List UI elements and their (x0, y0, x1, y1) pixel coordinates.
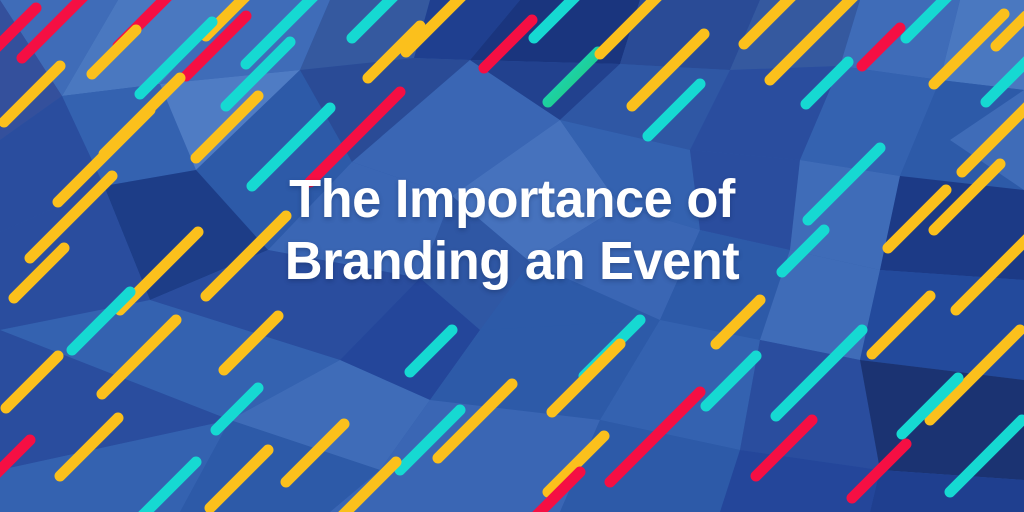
diagonal-stripe (548, 52, 598, 102)
diagonal-stripe (610, 392, 700, 482)
diagonal-stripe (872, 296, 930, 354)
diagonal-stripe (286, 424, 344, 482)
diagonal-stripe (0, 440, 30, 486)
diagonal-stripe (410, 330, 452, 372)
diagonal-stripe (782, 230, 824, 272)
diagonal-stripe (600, 0, 660, 54)
diagonal-stripe (60, 418, 118, 476)
diagonal-stripe (716, 300, 760, 344)
diagonal-stripe (862, 28, 900, 66)
diagonal-stripe (648, 84, 700, 136)
diagonal-stripe (808, 148, 880, 220)
diagonal-stripe (744, 0, 796, 44)
diagonal-stripe (806, 62, 848, 104)
diagonal-stripe (852, 444, 906, 498)
diagonal-stripe (956, 238, 1024, 310)
diagonal-stripe (906, 0, 952, 38)
diagonal-stripe (962, 104, 1024, 172)
diagonal-stripe (120, 232, 198, 310)
diagonal-stripe (776, 330, 862, 416)
diagonal-stripe (352, 0, 396, 38)
diagonal-stripe (706, 356, 756, 406)
diagonal-stripe (930, 330, 1020, 420)
diagonal-stripe (136, 462, 196, 512)
diagonal-stripe (72, 292, 130, 350)
diagonal-stripe (310, 92, 400, 182)
diagonal-stripe (756, 420, 812, 476)
stripe-group (0, 0, 1024, 512)
diagonal-stripe (340, 462, 396, 512)
diagonal-stripe (552, 344, 620, 412)
diagonal-stripe (224, 316, 278, 370)
diagonal-stripe (102, 320, 176, 394)
diagonal-stripe-pattern (0, 0, 1024, 512)
diagonal-stripe (484, 20, 532, 68)
diagonal-stripe (4, 66, 60, 122)
diagonal-stripe (986, 58, 1024, 102)
diagonal-stripe (534, 0, 580, 38)
event-blog-banner: The Importance of Branding an Event (0, 0, 1024, 512)
diagonal-stripe (210, 450, 268, 508)
diagonal-stripe (216, 388, 258, 430)
diagonal-stripe (6, 356, 58, 408)
diagonal-stripe (950, 420, 1022, 492)
diagonal-stripe (92, 30, 136, 74)
diagonal-stripe (206, 216, 286, 296)
